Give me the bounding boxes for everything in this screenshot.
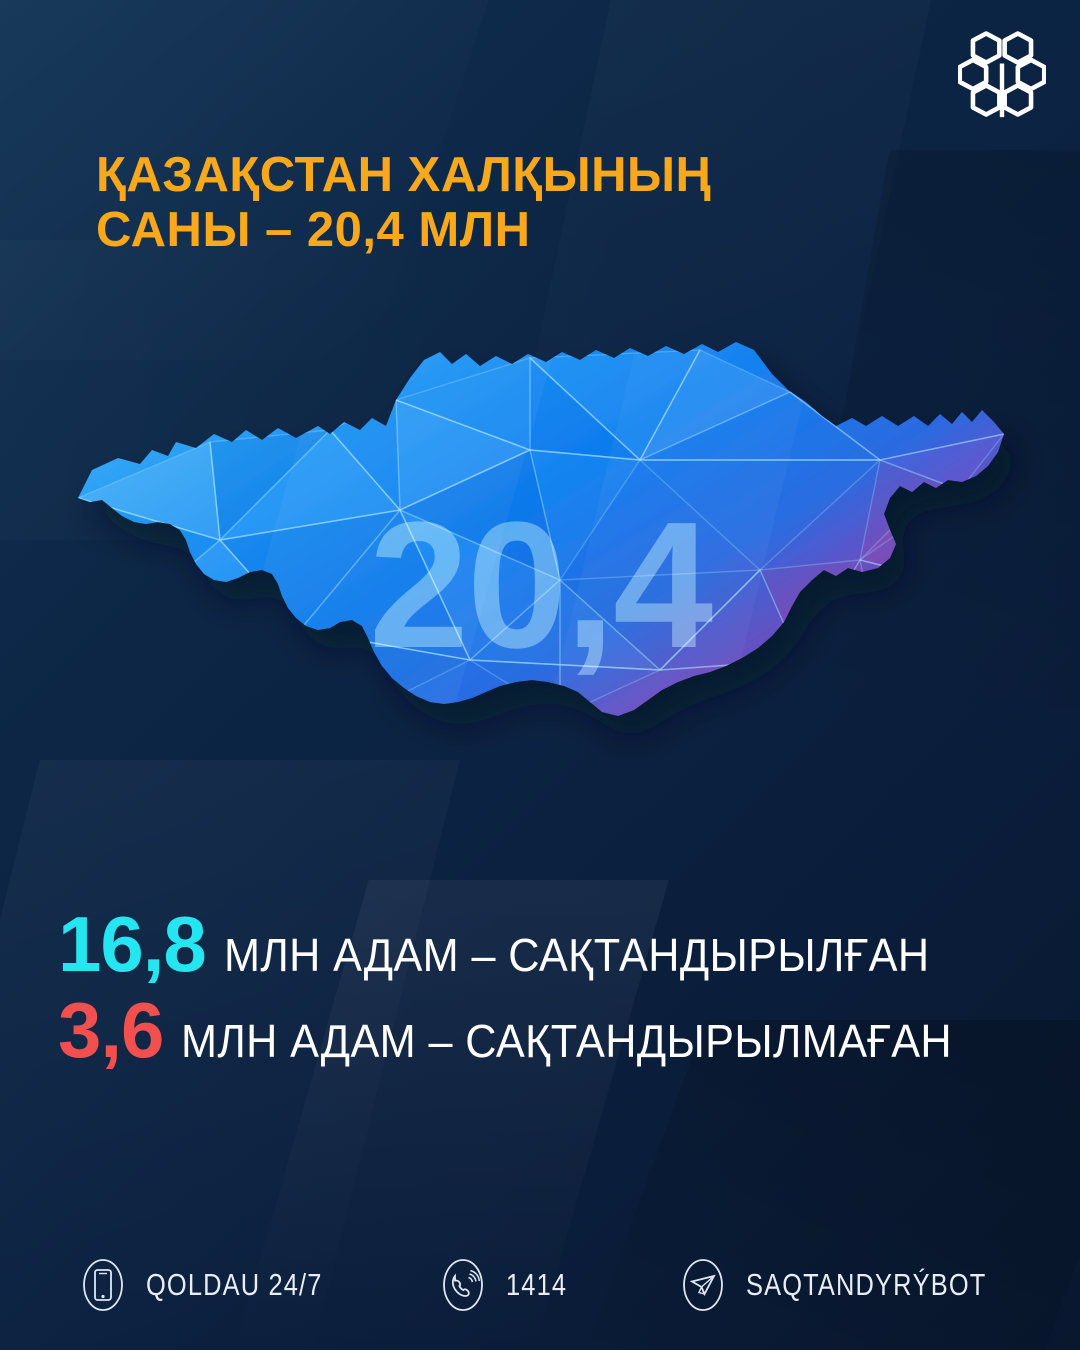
kazakhstan-map: 20,4 [0, 330, 1080, 830]
footer-label-telegram-bot: SAQTANDYRÝBOT [746, 1267, 986, 1303]
stat-row-insured: 16,8 МЛН АДАМ – САҚТАНДЫРЫЛҒАН [58, 905, 1038, 983]
footer-item-phone[interactable]: 1414 [440, 1258, 581, 1312]
ringing-phone-icon [440, 1258, 486, 1312]
stat-label-insured: МЛН АДАМ – САҚТАНДЫРЫЛҒАН [224, 932, 929, 978]
title-line-2: САНЫ – 20,4 МЛН [96, 203, 896, 258]
telegram-plane-icon [680, 1258, 726, 1312]
fsms-logo-icon [958, 28, 1046, 120]
kazakhstan-map-svg [0, 330, 1080, 830]
stats-block: 16,8 МЛН АДАМ – САҚТАНДЫРЫЛҒАН 3,6 МЛН А… [58, 905, 1038, 1077]
title-line-1: ҚАЗАҚСТАН ХАЛҚЫНЫҢ [96, 148, 896, 203]
stat-value-insured: 16,8 [58, 905, 206, 983]
footer-item-qoldau[interactable]: QOLDAU 24/7 [80, 1258, 361, 1312]
footer-label-phone: 1414 [506, 1267, 567, 1303]
smartphone-icon [80, 1258, 126, 1312]
page-title: ҚАЗАҚСТАН ХАЛҚЫНЫҢ САНЫ – 20,4 МЛН [96, 148, 896, 258]
stat-row-uninsured: 3,6 МЛН АДАМ – САҚТАНДЫРЫЛМАҒАН [58, 991, 1038, 1069]
footer-contacts: QOLDAU 24/7 1414 [60, 1248, 1060, 1330]
map-low-poly-facets [78, 350, 1004, 716]
footer-label-qoldau: QOLDAU 24/7 [146, 1267, 323, 1303]
stat-value-uninsured: 3,6 [58, 991, 163, 1069]
footer-item-telegram-bot[interactable]: SAQTANDYRÝBOT [680, 1258, 1039, 1312]
stat-label-uninsured: МЛН АДАМ – САҚТАНДЫРЫЛМАҒАН [181, 1018, 952, 1064]
infographic-poster: ҚАЗАҚСТАН ХАЛҚЫНЫҢ САНЫ – 20,4 МЛН [0, 0, 1080, 1350]
